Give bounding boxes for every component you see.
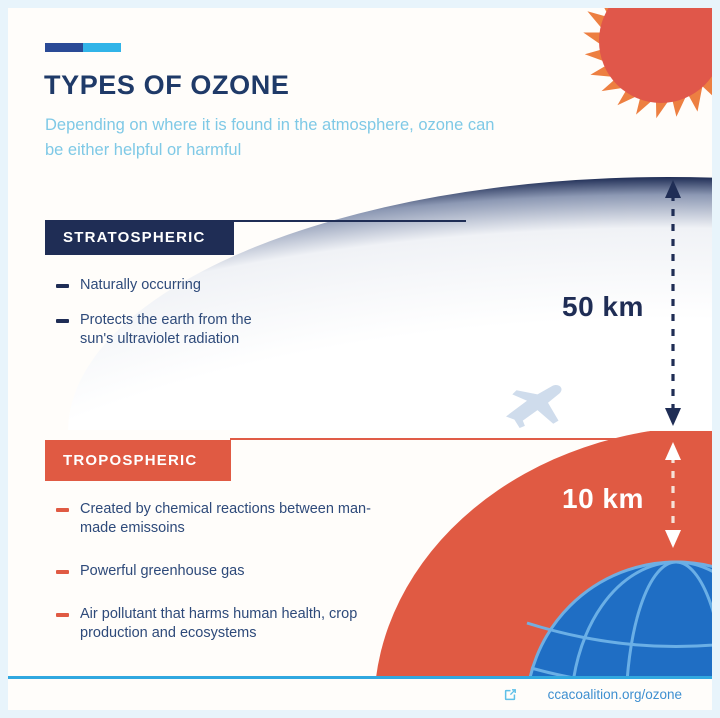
infographic-page: TYPES OF OZONE Depending on where it is … [0, 0, 720, 718]
arrow-10km [665, 442, 681, 548]
list-item-text: Protects the earth from the sun's ultrav… [80, 311, 286, 349]
list-item-text: Naturally occurring [80, 276, 201, 295]
arrow-50km [665, 180, 681, 426]
dash-bullet-icon [56, 284, 69, 288]
page-subtitle: Depending on where it is found in the at… [45, 113, 505, 163]
dash-bullet-icon [56, 570, 69, 574]
tropospheric-connector-line [230, 438, 712, 440]
accent-bar [45, 43, 121, 52]
content-card: TYPES OF OZONE Depending on where it is … [8, 8, 712, 710]
list-item-text: Air pollutant that harms human health, c… [80, 605, 396, 643]
altitude-label-troposphere: 10 km [562, 483, 644, 515]
list-item-text: Powerful greenhouse gas [80, 562, 244, 581]
airplane-icon [506, 385, 562, 428]
list-item: Protects the earth from the sun's ultrav… [56, 311, 286, 349]
stratospheric-connector-line [234, 220, 466, 222]
accent-bar-segment-dark [45, 43, 83, 52]
list-item: Powerful greenhouse gas [56, 562, 396, 581]
tropospheric-label-text: TROPOSPHERIC [63, 452, 197, 469]
stratospheric-label-chip: STRATOSPHERIC [45, 220, 234, 255]
list-item: Air pollutant that harms human health, c… [56, 605, 396, 643]
tropospheric-label-chip: TROPOSPHERIC [45, 440, 231, 481]
accent-bar-segment-light [83, 43, 121, 52]
tropospheric-bullet-list: Created by chemical reactions between ma… [56, 500, 396, 667]
dash-bullet-icon [56, 508, 69, 512]
dash-bullet-icon [56, 319, 69, 323]
sun-icon [566, 8, 712, 136]
stratospheric-label-text: STRATOSPHERIC [63, 229, 206, 246]
page-title: TYPES OF OZONE [44, 70, 289, 101]
list-item: Created by chemical reactions between ma… [56, 500, 396, 538]
list-item-text: Created by chemical reactions between ma… [80, 500, 396, 538]
dash-bullet-icon [56, 613, 69, 617]
footer: ccacoalition.org/ozone [8, 679, 712, 710]
stratospheric-bullet-list: Naturally occurring Protects the earth f… [56, 276, 286, 365]
footer-url[interactable]: ccacoalition.org/ozone [548, 687, 682, 702]
altitude-label-stratosphere: 50 km [562, 291, 644, 323]
list-item: Naturally occurring [56, 276, 286, 295]
external-link-icon[interactable] [503, 687, 518, 702]
